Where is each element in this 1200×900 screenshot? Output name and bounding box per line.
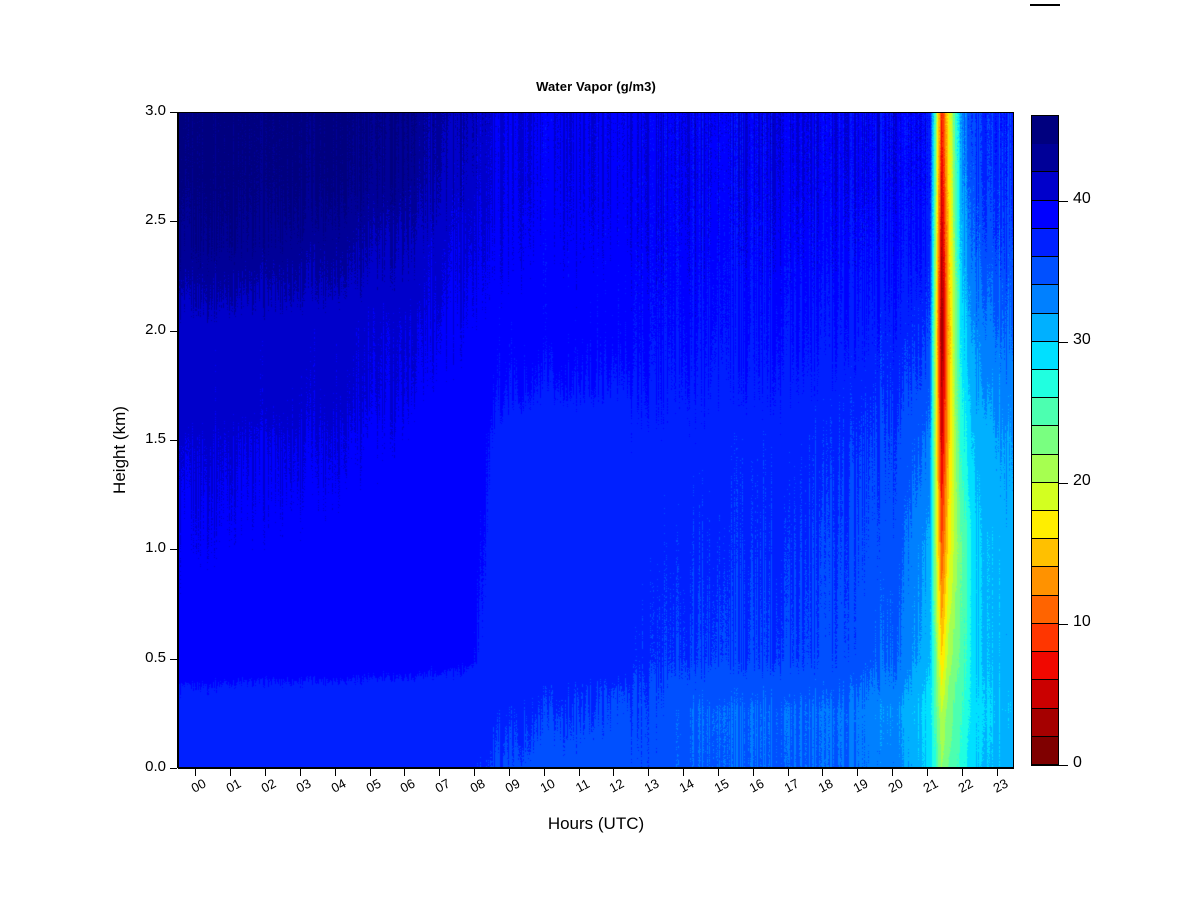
- colorbar-band: [1032, 144, 1058, 172]
- x-tick-label: 23: [990, 776, 1010, 796]
- x-tick-mark: [404, 769, 405, 776]
- y-tick: 0.5: [100, 659, 177, 660]
- y-tick-label: 0.5: [145, 649, 166, 666]
- colorbar-band: [1032, 201, 1058, 229]
- x-tick-mark: [300, 769, 301, 776]
- x-tick-mark: [718, 769, 719, 776]
- x-tick-label: 09: [503, 776, 523, 796]
- x-tick-label: 00: [189, 776, 209, 796]
- x-axis-ticks: 0001020304050607080910111213141516171819…: [178, 769, 1014, 809]
- y-tick-mark: [170, 659, 177, 660]
- x-tick-mark: [439, 769, 440, 776]
- x-tick-mark: [648, 769, 649, 776]
- x-tick-mark: [788, 769, 789, 776]
- y-tick-mark: [170, 549, 177, 550]
- x-tick-mark: [927, 769, 928, 776]
- y-tick: 2.5: [100, 221, 177, 222]
- colorbar-band: [1032, 483, 1058, 511]
- y-tick-mark: [170, 112, 177, 113]
- x-tick-mark: [370, 769, 371, 776]
- y-tick-label: 1.5: [145, 430, 166, 447]
- x-tick-label: 15: [712, 776, 732, 796]
- y-tick-label: 2.0: [145, 321, 166, 338]
- heatmap-panel[interactable]: [178, 112, 1014, 768]
- x-tick-label: 14: [677, 776, 697, 796]
- x-tick-label: 06: [398, 776, 418, 796]
- x-tick-mark: [962, 769, 963, 776]
- x-tick-mark: [822, 769, 823, 776]
- x-tick-mark: [474, 769, 475, 776]
- colorbar-tick: 30: [1059, 342, 1129, 343]
- colorbar-band: [1032, 511, 1058, 539]
- x-tick-mark: [230, 769, 231, 776]
- x-tick-mark: [683, 769, 684, 776]
- colorbar-band: [1032, 539, 1058, 567]
- colorbar-tick-mark: [1059, 201, 1068, 202]
- x-tick-mark: [195, 769, 196, 776]
- y-tick-label: 1.0: [145, 539, 166, 556]
- x-tick-label: 10: [537, 776, 557, 796]
- colorbar-band: [1032, 116, 1058, 144]
- colorbar-band: [1032, 680, 1058, 708]
- colorbar-tick-label: 20: [1073, 472, 1091, 490]
- x-tick-label: 08: [468, 776, 488, 796]
- colorbar-band: [1032, 567, 1058, 595]
- colorbar-tick-label: 40: [1073, 190, 1091, 208]
- y-axis-title: Height (km): [110, 370, 130, 530]
- x-tick-label: 11: [573, 776, 592, 796]
- colorbar-band: [1032, 596, 1058, 624]
- x-tick-label: 01: [224, 776, 244, 796]
- x-tick-mark: [544, 769, 545, 776]
- y-tick-mark: [170, 221, 177, 222]
- x-tick-mark: [265, 769, 266, 776]
- colorbar-tick-mark: [1059, 624, 1068, 625]
- colorbar-band: [1032, 455, 1058, 483]
- y-tick-label: 0.0: [145, 758, 166, 775]
- x-tick-label: 04: [328, 776, 348, 796]
- colorbar-band: [1032, 172, 1058, 200]
- colorbar-ticks: 010203040: [1059, 115, 1129, 766]
- colorbar-tick: 20: [1059, 483, 1129, 484]
- y-tick-label: 3.0: [145, 102, 166, 119]
- x-tick-label: 12: [607, 776, 627, 796]
- x-axis-title: Hours (UTC): [178, 814, 1014, 834]
- x-tick-label: 13: [642, 776, 662, 796]
- x-tick-label: 19: [851, 776, 871, 796]
- x-tick-mark: [579, 769, 580, 776]
- y-tick-mark: [170, 331, 177, 332]
- y-tick: 1.0: [100, 549, 177, 550]
- y-tick: 3.0: [100, 112, 177, 113]
- x-tick-mark: [509, 769, 510, 776]
- y-tick-mark: [170, 768, 177, 769]
- colorbar-tick-label: 30: [1073, 331, 1091, 349]
- colorbar-tick-label: 0: [1073, 754, 1082, 772]
- y-tick: 0.0: [100, 768, 177, 769]
- colorbar-band: [1032, 342, 1058, 370]
- colorbar-band: [1032, 398, 1058, 426]
- y-tick-mark: [170, 440, 177, 441]
- colorbar-tick: 10: [1059, 624, 1129, 625]
- x-tick-mark: [997, 769, 998, 776]
- x-tick-mark: [753, 769, 754, 776]
- x-tick-label: 05: [363, 776, 383, 796]
- colorbar-band: [1032, 314, 1058, 342]
- figure-canvas: Water Vapor (g/m3) 0.00.51.01.52.02.53.0…: [0, 0, 1200, 900]
- colorbar-band: [1032, 426, 1058, 454]
- colorbar-tick-mark: [1059, 765, 1068, 766]
- x-tick-label: 16: [746, 776, 766, 796]
- page-title: Water Vapor (g/m3): [178, 79, 1014, 94]
- y-tick: 2.0: [100, 331, 177, 332]
- x-tick-mark: [892, 769, 893, 776]
- x-tick-label: 03: [294, 776, 314, 796]
- colorbar[interactable]: [1031, 115, 1059, 766]
- x-tick-mark: [857, 769, 858, 776]
- colorbar-band: [1032, 257, 1058, 285]
- x-tick-mark: [335, 769, 336, 776]
- colorbar-tick-mark: [1059, 342, 1068, 343]
- x-tick-label: 21: [921, 776, 941, 796]
- x-tick-label: 07: [433, 776, 453, 796]
- clipped-frame-stub: [1030, 4, 1060, 6]
- x-tick-label: 18: [816, 776, 836, 796]
- x-tick-label: 22: [955, 776, 975, 796]
- x-tick-label: 02: [259, 776, 279, 796]
- colorbar-band: [1032, 624, 1058, 652]
- x-tick-label: 20: [886, 776, 906, 796]
- heatmap-image: [179, 113, 1013, 767]
- colorbar-band: [1032, 652, 1058, 680]
- colorbar-tick: 40: [1059, 201, 1129, 202]
- colorbar-tick-label: 10: [1073, 613, 1091, 631]
- y-tick-label: 2.5: [145, 211, 166, 228]
- x-tick-mark: [613, 769, 614, 776]
- colorbar-band: [1032, 370, 1058, 398]
- colorbar-tick-mark: [1059, 483, 1068, 484]
- colorbar-band: [1032, 709, 1058, 737]
- y-axis-line: [177, 112, 178, 768]
- x-tick-label: 17: [781, 776, 801, 796]
- colorbar-band: [1032, 229, 1058, 257]
- colorbar-band: [1032, 285, 1058, 313]
- colorbar-band: [1032, 737, 1058, 765]
- colorbar-tick: 0: [1059, 765, 1129, 766]
